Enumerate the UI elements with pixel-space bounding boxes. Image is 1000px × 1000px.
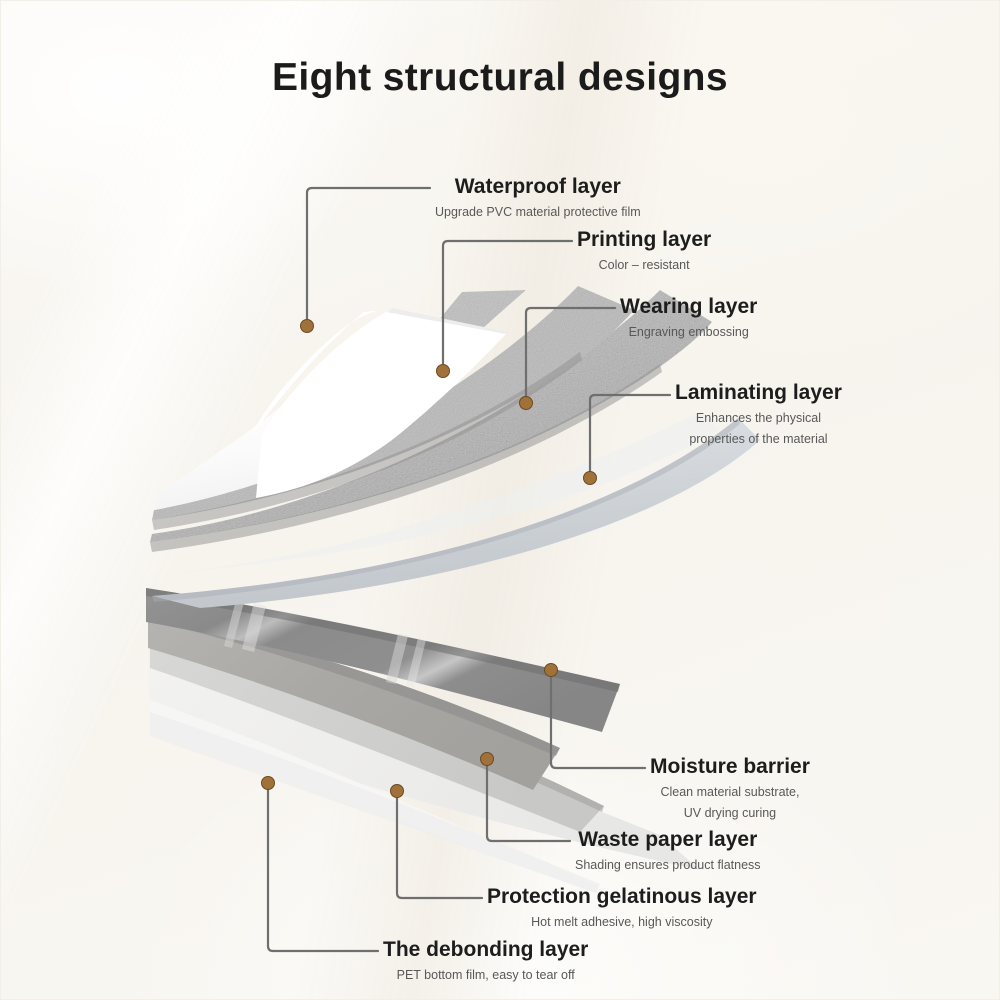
leader-line-waterproof (307, 188, 430, 326)
dot-waste-paper (481, 753, 494, 766)
callout-laminating: Laminating layer Enhances the physical p… (675, 381, 842, 449)
layer-stack-illustration (0, 0, 1000, 1000)
callout-subtitle2-laminating: properties of the material (675, 430, 842, 449)
callout-printing: Printing layer Color – resistant (577, 228, 711, 275)
callout-waterproof: Waterproof layer Upgrade PVC material pr… (435, 175, 641, 222)
callout-title-printing: Printing layer (577, 228, 711, 252)
callout-subtitle-wearing: Engraving embossing (620, 323, 757, 342)
callout-debonding: The debonding layer PET bottom film, eas… (383, 938, 588, 985)
callout-subtitle-waterproof: Upgrade PVC material protective film (435, 203, 641, 222)
callout-protection: Protection gelatinous layer Hot melt adh… (487, 885, 757, 932)
callout-subtitle-protection: Hot melt adhesive, high viscosity (487, 913, 757, 932)
callout-subtitle-waste-paper: Shading ensures product flatness (575, 856, 761, 875)
dot-moisture (545, 664, 558, 677)
callout-subtitle-moisture: Clean material substrate, (650, 783, 810, 802)
callout-waste-paper: Waste paper layer Shading ensures produc… (575, 828, 761, 875)
callout-subtitle-laminating: Enhances the physical (675, 409, 842, 428)
callout-title-moisture: Moisture barrier (650, 755, 810, 779)
callout-title-wearing: Wearing layer (620, 295, 757, 319)
callout-title-waterproof: Waterproof layer (435, 175, 641, 199)
callout-title-debonding: The debonding layer (383, 938, 588, 962)
callout-subtitle-debonding: PET bottom film, easy to tear off (383, 966, 588, 985)
infographic-page: Eight structural designs (0, 0, 1000, 1000)
dot-laminating (584, 472, 597, 485)
callout-title-waste-paper: Waste paper layer (575, 828, 761, 852)
dot-protection (391, 785, 404, 798)
callout-subtitle-printing: Color – resistant (577, 256, 711, 275)
dot-debonding (262, 777, 275, 790)
callout-title-protection: Protection gelatinous layer (487, 885, 757, 909)
callout-wearing: Wearing layer Engraving embossing (620, 295, 757, 342)
dot-wearing (520, 397, 533, 410)
callout-subtitle2-moisture: UV drying curing (650, 804, 810, 823)
callout-title-laminating: Laminating layer (675, 381, 842, 405)
dot-printing (437, 365, 450, 378)
callout-moisture: Moisture barrier Clean material substrat… (650, 755, 810, 823)
dot-waterproof (301, 320, 314, 333)
